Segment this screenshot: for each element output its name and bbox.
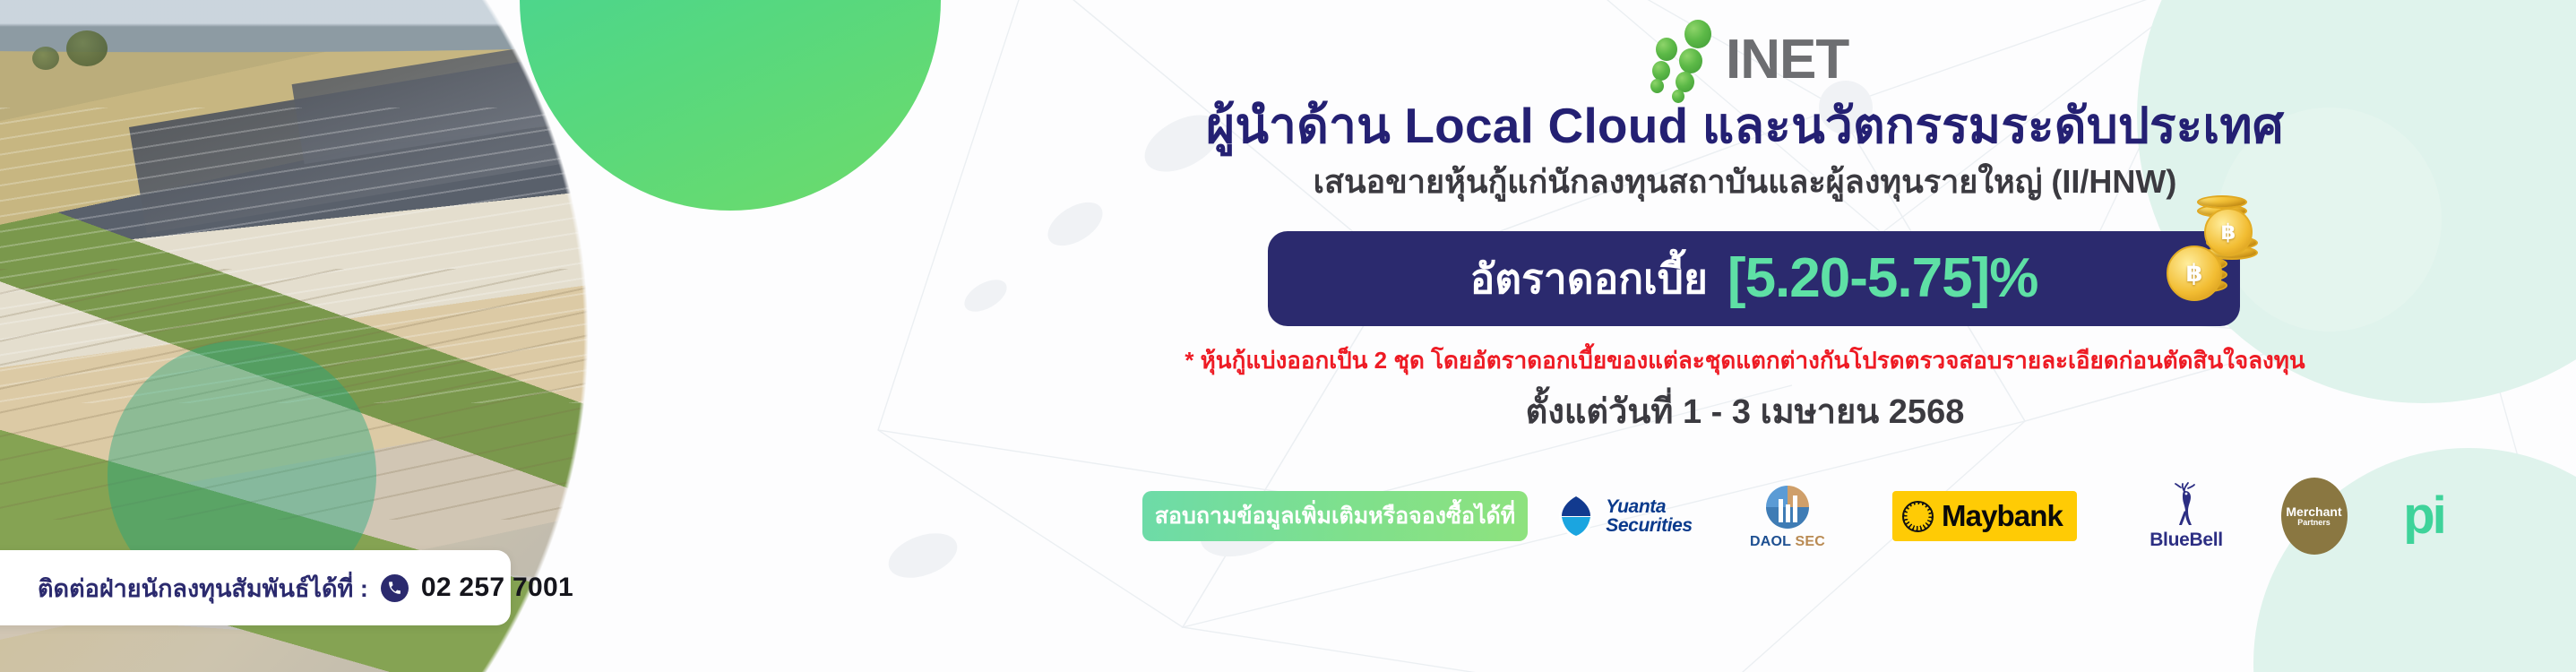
disclaimer-text: * หุ้นกู้แบ่งออกเป็น 2 ชุด โดยอัตราดอกเบ… [914,342,2576,379]
partners-row: สอบถามข้อมูลเพิ่มเติมหรือจองซื้อได้ที่ Y… [1142,475,2558,557]
inet-logo-dots-icon [1649,14,1724,97]
maybank-tiger-icon [1902,501,1934,532]
page-subtitle: เสนอขายหุ้นกู้แก่นักลงทุนสถาบันและผู้ลงท… [914,161,2576,202]
maybank-name: Maybank [1942,499,2063,533]
banner-content: INET ผู้นำด้าน Local Cloud และนวัตกรรมระ… [914,0,2576,672]
interest-rate-label: อัตราดอกเบี้ย [1470,258,1708,299]
inet-logo-text: INET [1726,32,1848,88]
yuanta-mark-icon [1555,493,1597,539]
gold-coins-icon: ฿ ฿ [2156,195,2270,330]
page-title: ผู้นำด้าน Local Cloud และนวัตกรรมระดับปร… [914,97,2576,155]
daol-name: DAOL [1750,534,1791,549]
bluebell-name: BlueBell [2150,530,2223,551]
partner-logo-daol[interactable]: DAOL SEC [1720,475,1855,557]
promo-banner: ติดต่อฝ่ายนักลงทุนสัมพันธ์ได้ที่ : 02 25… [0,0,2576,672]
yuanta-line-2: Securities [1606,516,1692,535]
daol-suffix: SEC [1796,534,1826,549]
interest-rate-box: อัตราดอกเบี้ย [5.20-5.75]% ฿ ฿ [1268,231,2240,326]
inquire-button[interactable]: สอบถามข้อมูลเพิ่มเติมหรือจองซื้อได้ที่ [1142,491,1528,541]
interest-rate-value: [5.20-5.75]% [1727,251,2038,306]
bluebell-deer-icon [2167,481,2206,528]
offering-date: ตั้งแต่วันที่ 1 - 3 เมษายน 2568 [914,383,2576,438]
contact-phone-number: 02 257 7001 [421,573,573,603]
partner-logo-merchant-partners[interactable]: Merchant Partners [2258,475,2370,557]
inet-logo: INET [1649,14,1917,97]
partner-logo-maybank[interactable]: Maybank [1855,475,2115,557]
partner-logo-pi[interactable]: pi [2370,475,2477,557]
contact-label: ติดต่อฝ่ายนักลงทุนสัมพันธ์ได้ที่ : [38,569,368,607]
phone-icon [381,574,409,602]
yuanta-line-1: Yuanta [1606,497,1692,516]
merchant-line-1: Merchant [2286,505,2341,519]
pi-name: pi [2403,495,2444,537]
partner-logo-yuanta[interactable]: Yuanta Securities [1528,475,1720,557]
photo-tree-2 [32,47,59,70]
daol-mark-icon [1763,483,1812,531]
investor-relations-contact-bar[interactable]: ติดต่อฝ่ายนักลงทุนสัมพันธ์ได้ที่ : 02 25… [0,550,511,625]
photo-tree [66,30,108,66]
partner-logo-bluebell[interactable]: BlueBell [2115,475,2258,557]
merchant-line-2: Partners [2297,519,2330,527]
